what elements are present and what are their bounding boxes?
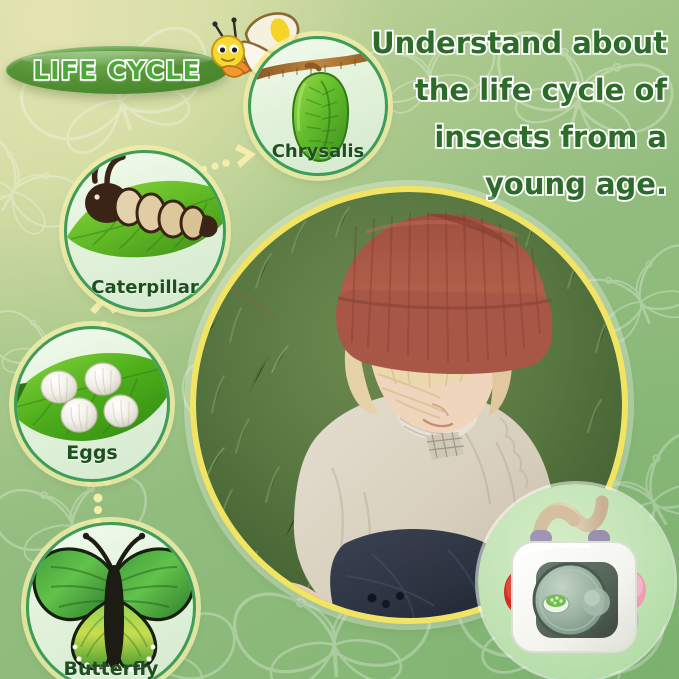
headline-line-2: the life cycle of bbox=[349, 67, 667, 114]
headline: Understand about the life cycle of insec… bbox=[349, 20, 667, 208]
stage-caption-eggs: Eggs bbox=[14, 442, 170, 464]
life-cycle-banner: LIFE CYCLE bbox=[6, 46, 228, 94]
stage-caption-caterpillar: Caterpillar bbox=[64, 277, 226, 298]
poster: LIFE CYCLE Understand about the life cyc… bbox=[0, 0, 679, 679]
headline-line-1: Understand about bbox=[349, 20, 667, 67]
stage-circle-butterfly[interactable]: Butterfly bbox=[26, 522, 196, 679]
headline-line-3: insects from a bbox=[349, 114, 667, 161]
butterfly-ring bbox=[26, 522, 196, 679]
banner-label: LIFE CYCLE bbox=[6, 46, 228, 94]
stage-circle-chrysalis[interactable]: Chrysalis bbox=[248, 36, 388, 176]
stage-caption-chrysalis: Chrysalis bbox=[248, 141, 388, 162]
toy-projector-device[interactable] bbox=[478, 484, 674, 679]
green-butterfly-icon bbox=[29, 525, 196, 679]
stage-circle-caterpillar[interactable]: Caterpillar bbox=[64, 150, 226, 312]
stage-caption-butterfly: Butterfly bbox=[26, 658, 196, 679]
stage-circle-eggs[interactable]: Eggs bbox=[14, 326, 170, 482]
